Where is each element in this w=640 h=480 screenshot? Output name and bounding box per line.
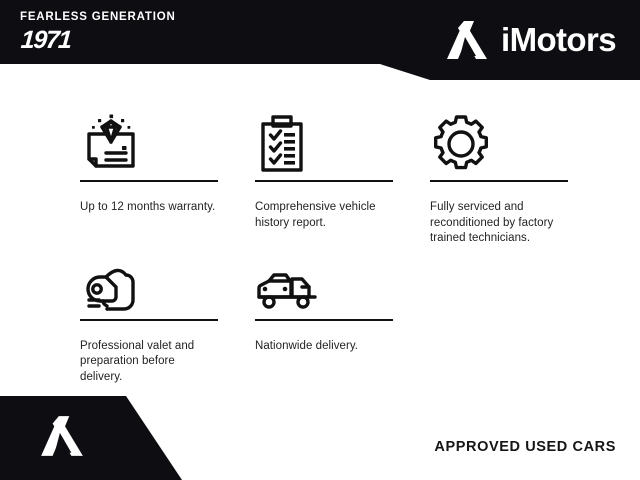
promo-banner: FEARLESS GENERATION 1971 iMotors bbox=[0, 0, 640, 480]
feature-serviced: Fully serviced and reconditioned by fact… bbox=[430, 108, 568, 247]
feature-text: Nationwide delivery. bbox=[255, 339, 393, 355]
feature-divider bbox=[430, 180, 568, 182]
feature-warranty: Up to 12 months warranty. bbox=[80, 108, 218, 247]
feature-delivery: Nationwide delivery. bbox=[255, 261, 393, 386]
feature-valet: Professional valet and preparation befor… bbox=[80, 261, 218, 386]
feature-divider bbox=[80, 180, 218, 182]
feature-row-two: Professional valet and preparation befor… bbox=[80, 261, 580, 386]
feature-text: Comprehensive vehicle history report. bbox=[255, 200, 393, 231]
feature-divider bbox=[80, 319, 218, 321]
year-1971-mark: 1971 bbox=[20, 26, 178, 54]
feature-divider bbox=[255, 319, 393, 321]
feature-text: Professional valet and preparation befor… bbox=[80, 339, 218, 386]
approved-used-cars-tagline: APPROVED USED CARS bbox=[434, 439, 616, 455]
clipboard-checklist-icon bbox=[255, 108, 393, 180]
vacuum-cleaner-icon bbox=[80, 261, 218, 319]
feature-text: Up to 12 months warranty. bbox=[80, 200, 218, 216]
fearless-generation-label: FEARLESS GENERATION bbox=[20, 10, 176, 24]
feature-history-report: Comprehensive vehicle history report. bbox=[255, 108, 393, 247]
feature-text: Fully serviced and reconditioned by fact… bbox=[430, 200, 568, 247]
feature-divider bbox=[255, 180, 393, 182]
brand-lockup: iMotors bbox=[444, 17, 616, 63]
feature-row-one: Up to 12 months warranty. bbox=[80, 108, 580, 247]
warranty-certificate-icon bbox=[80, 108, 218, 180]
fearless-generation-block: FEARLESS GENERATION 1971 bbox=[20, 10, 176, 54]
car-transporter-truck-icon bbox=[255, 261, 393, 319]
feature-grid: Up to 12 months warranty. bbox=[80, 108, 580, 385]
footer-angled-panel bbox=[0, 396, 200, 480]
gear-cog-icon bbox=[430, 108, 568, 180]
brand-name: iMotors bbox=[501, 22, 616, 58]
header-bar: FEARLESS GENERATION 1971 iMotors bbox=[0, 0, 640, 80]
imotors-chevron-logo-icon bbox=[444, 17, 490, 63]
